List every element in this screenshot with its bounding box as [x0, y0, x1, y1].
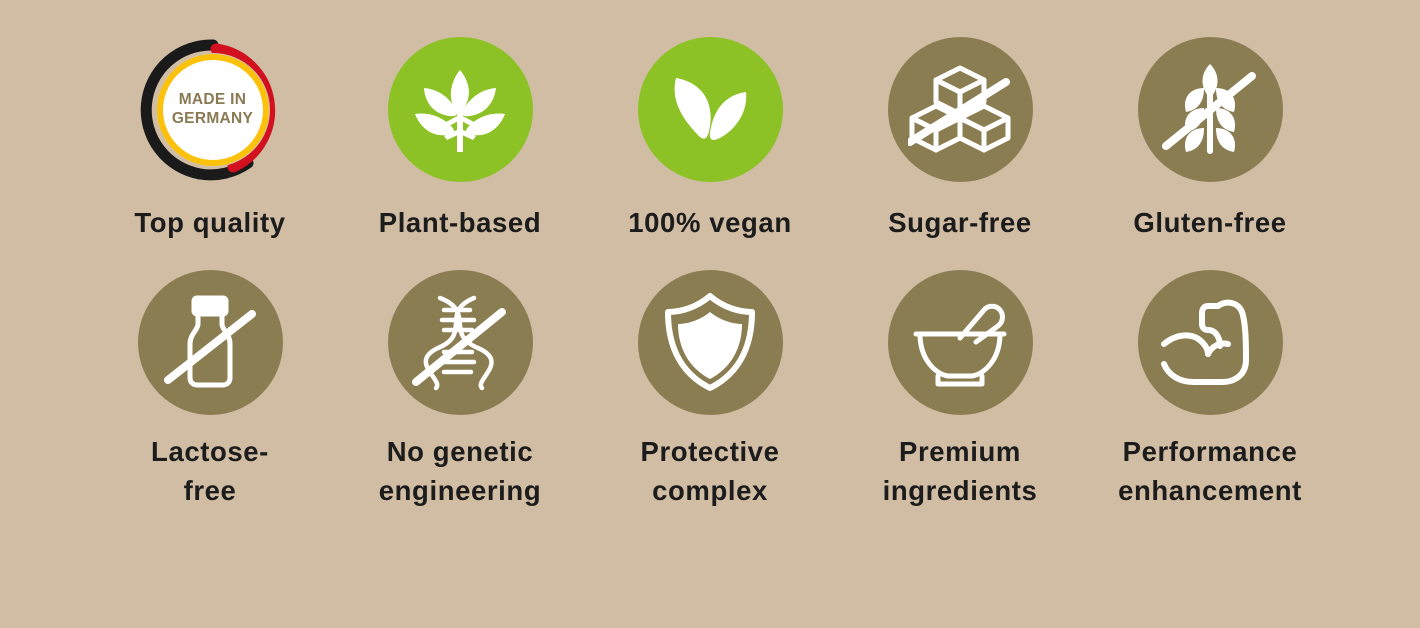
seal-text: MADE IN GERMANY — [138, 35, 288, 185]
badge-gluten-free: Gluten-free — [1085, 22, 1335, 242]
badge-label: Premiumingredients — [883, 432, 1038, 510]
badge-top-quality: MADE IN GERMANY Top quality — [85, 22, 335, 242]
icon-container — [623, 256, 798, 428]
seal-line-2: GERMANY — [172, 110, 253, 129]
badge-row-top: MADE IN GERMANY Top quality — [0, 22, 1420, 242]
shield-icon — [638, 270, 783, 415]
badge-label: Gluten-free — [1133, 203, 1286, 242]
badge-sugar-free: Sugar-free — [835, 22, 1085, 242]
milk-bottle-crossed-out-icon — [138, 270, 283, 415]
feature-badges-board: MADE IN GERMANY Top quality — [0, 0, 1420, 628]
icon-container — [873, 22, 1048, 197]
wheat-stalk-crossed-out-icon — [1138, 37, 1283, 182]
icon-container — [373, 22, 548, 197]
icon-container — [1123, 22, 1298, 197]
icon-container — [873, 256, 1048, 428]
badge-label: Performanceenhancement — [1118, 432, 1302, 510]
badge-label: Sugar-free — [888, 203, 1032, 242]
badge-label: Protectivecomplex — [641, 432, 780, 510]
seal-line-1: MADE IN — [179, 91, 247, 110]
badge-label: 100% vegan — [628, 203, 791, 242]
badge-performance-enhancement: Performanceenhancement — [1085, 256, 1335, 510]
flexed-bicep-icon — [1138, 270, 1283, 415]
two-leaves-vegan-icon — [638, 37, 783, 182]
badge-row-bottom: Lactose-free — [0, 256, 1420, 510]
icon-container — [1123, 256, 1298, 428]
mortar-and-pestle-icon — [888, 270, 1033, 415]
made-in-germany-seal-icon: MADE IN GERMANY — [138, 35, 283, 185]
badge-label: No geneticengineering — [379, 432, 541, 510]
icon-container — [373, 256, 548, 428]
icon-container — [623, 22, 798, 197]
seal-circle: MADE IN GERMANY — [138, 37, 283, 182]
sugar-cubes-crossed-out-icon — [888, 37, 1033, 182]
badge-label: Lactose-free — [151, 432, 269, 510]
badge-lactose-free: Lactose-free — [85, 256, 335, 510]
badge-no-genetic-engineering: No geneticengineering — [335, 256, 585, 510]
icon-container — [123, 256, 298, 428]
plant-leaves-icon — [388, 37, 533, 182]
icon-container: MADE IN GERMANY — [123, 22, 298, 197]
dna-helix-crossed-out-icon — [388, 270, 533, 415]
badge-plant-based: Plant-based — [335, 22, 585, 242]
badge-vegan: 100% vegan — [585, 22, 835, 242]
badge-premium-ingredients: Premiumingredients — [835, 256, 1085, 510]
badge-label: Plant-based — [379, 203, 541, 242]
badge-protective-complex: Protectivecomplex — [585, 256, 835, 510]
badge-label: Top quality — [134, 203, 285, 242]
